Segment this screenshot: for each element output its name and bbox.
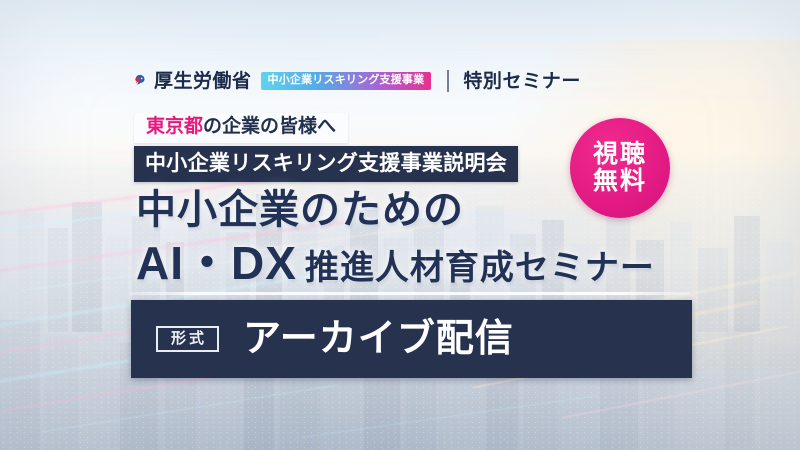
page-title-line1: 中小企業のための bbox=[136, 190, 464, 230]
free-viewing-badge: 視聴 無料 bbox=[570, 118, 670, 218]
header-bar: 厚生労働省 中小企業リスキリング支援事業 特別セミナー bbox=[131, 67, 581, 95]
free-badge-line1: 視聴 bbox=[593, 141, 647, 168]
audience-rest: の企業の皆様へ bbox=[203, 116, 336, 137]
audience-ribbon: 東京都の企業の皆様へ bbox=[134, 113, 348, 143]
format-band: 形式 アーカイブ配信 bbox=[131, 300, 692, 378]
title-underline bbox=[130, 292, 690, 295]
ministry-name: 厚生労働省 bbox=[154, 72, 252, 91]
seminar-banner: 厚生労働省 中小企業リスキリング支援事業 特別セミナー 東京都の企業の皆様へ 中… bbox=[0, 0, 800, 450]
mhlw-emblem-icon bbox=[131, 72, 150, 91]
program-badge: 中小企業リスキリング支援事業 bbox=[261, 72, 432, 90]
program-ribbon: 中小企業リスキリング支援事業説明会 bbox=[134, 146, 518, 182]
page-title-aidx: AI・DX bbox=[136, 240, 297, 286]
page-title-line2: AI・DX 推進人材育成セミナー bbox=[136, 240, 655, 286]
format-tag: 形式 bbox=[156, 326, 219, 352]
page-title-subtitle: 推進人材育成セミナー bbox=[305, 251, 655, 285]
seminar-label: 特別セミナー bbox=[463, 72, 581, 91]
free-badge-line2: 無料 bbox=[593, 168, 647, 195]
audience-region: 東京都 bbox=[146, 116, 203, 137]
format-value: アーカイブ配信 bbox=[243, 320, 514, 358]
vertical-divider-icon bbox=[447, 70, 449, 92]
ministry-logo: 厚生労働省 bbox=[131, 72, 252, 91]
